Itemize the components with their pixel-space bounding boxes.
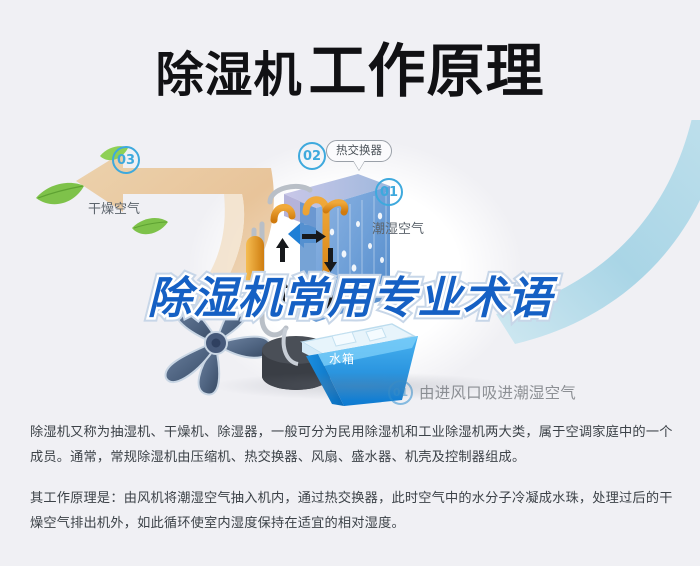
label-dry-air: 干燥空气 [88,198,140,217]
page-title-part1: 除湿机 [155,47,302,103]
label-moist-air: 潮湿空气 [372,218,424,237]
overlay-headline: 除湿机常用专业术语 [0,262,700,326]
callout-heat-exchanger: 热交换器 [326,140,392,162]
badge-03: 03 [112,146,140,174]
badge-02: 02 [298,142,326,170]
infographic-page: 除湿机工作原理 [0,0,700,566]
body-paragraph-1: 除湿机又称为抽湿机、干燥机、除湿器，一般可分为民用除湿机和工业除湿机两大类，属于… [30,420,676,470]
body-paragraph-2: 其工作原理是：由风机将潮湿空气抽入机内，通过热交换器，此时空气中的水分子冷凝成水… [30,486,676,536]
badge-01: 01 [375,178,403,206]
label-water-tank: 水箱 [329,350,355,367]
page-title-part2: 工作原理 [309,37,545,105]
page-title: 除湿机工作原理 [0,24,700,108]
illustration-ground-shadow [210,372,510,400]
